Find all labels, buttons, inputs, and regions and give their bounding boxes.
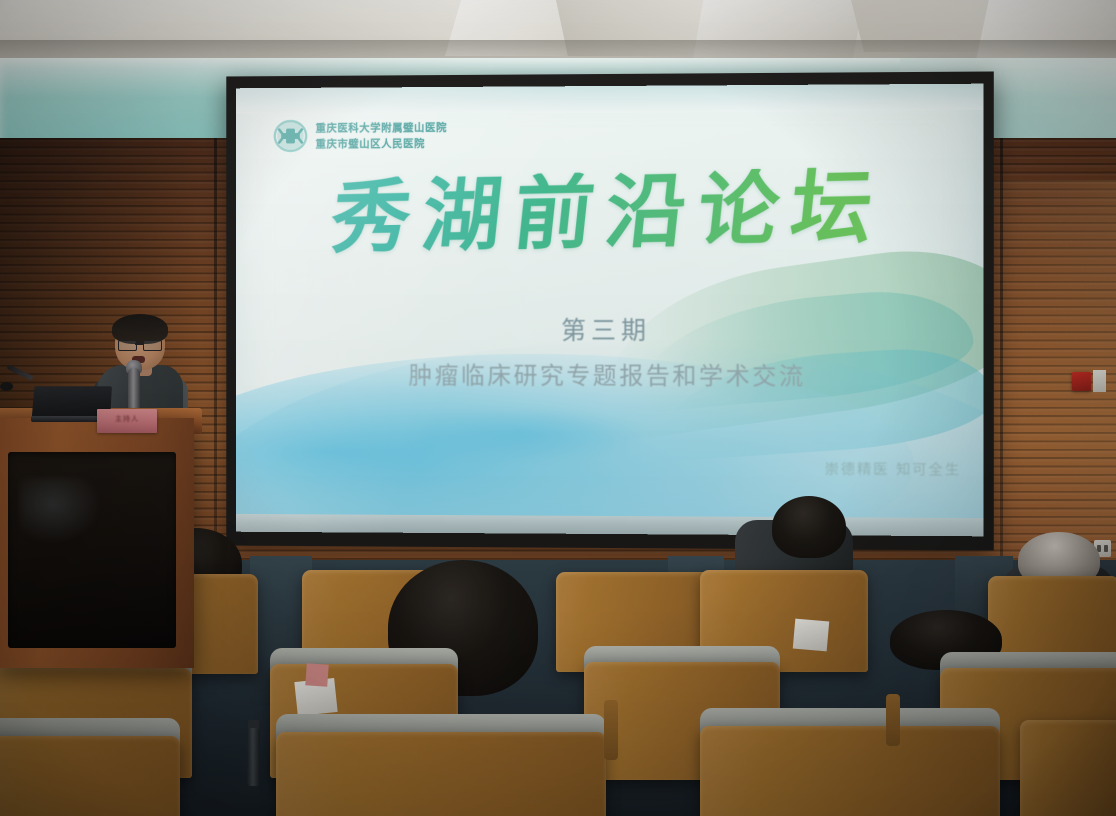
projection-screen: 重庆医科大学附属璧山医院 重庆市璧山区人民医院 秀湖前沿论坛 第三期 肿瘤临床研…: [236, 84, 984, 537]
hospital-cross-logo-icon: [273, 120, 307, 153]
seat-armrest: [604, 700, 618, 760]
pink-card: [305, 663, 328, 686]
slide-logo-line-2: 重庆市璧山区人民医院: [316, 136, 447, 152]
slide-logo: 重庆医科大学附属璧山医院 重庆市璧山区人民医院: [273, 119, 447, 153]
auditorium-photo: 重庆医科大学附属璧山医院 重庆市璧山区人民医院 秀湖前沿论坛 第三期 肿瘤临床研…: [0, 0, 1116, 816]
paper-sheet: [793, 619, 829, 652]
slide-logo-line-1: 重庆医科大学附属璧山医院: [316, 120, 447, 136]
slide-title: 秀湖前沿论坛: [236, 164, 984, 259]
seat: [1020, 720, 1116, 816]
podium-panel-glint: [20, 478, 102, 544]
seat: [0, 736, 180, 816]
water-bottle: [247, 728, 260, 786]
seat: [276, 732, 606, 816]
name-placard: 主持人: [97, 409, 157, 433]
seat-armrest: [886, 694, 900, 746]
slide-motto: 崇德精医 知可全生: [825, 459, 961, 480]
microphone-head-icon: [0, 382, 13, 391]
glasses-icon: [118, 340, 162, 349]
slide-subtitle: 肿瘤临床研究专题报告和学术交流: [236, 356, 984, 392]
slide-issue: 第三期: [236, 311, 984, 347]
wall-seam: [1000, 138, 1003, 618]
seat: [700, 726, 1000, 816]
wall-access-panel: [1093, 370, 1106, 392]
attendee-head: [772, 496, 846, 558]
name-placard-text: 主持人: [97, 414, 157, 424]
fire-alarm-icon: [1072, 372, 1091, 391]
screen-top-band: [236, 84, 984, 114]
